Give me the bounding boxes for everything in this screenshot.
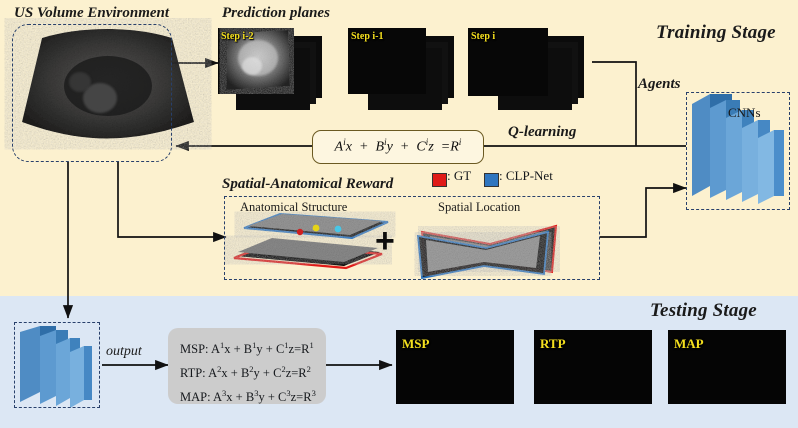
legend-swatch-gt (432, 173, 447, 187)
spatial-anatomical-reward-title: Spatial-Anatomical Reward (222, 176, 393, 193)
testing-equations-box: MSP: A1x + B1y + C1z=R1 RTP: A2x + B2y +… (168, 328, 326, 404)
q-learning-equation: Aix + Biy + Ciz =Ri (335, 138, 462, 156)
output-label: output (106, 344, 142, 360)
spatial-location-label: Spatial Location (438, 200, 520, 215)
testing-equation-msp: MSP: A1x + B1y + C1z=R1 (180, 335, 314, 359)
figure-root: Training Stage Testing Stage US Volume E… (0, 0, 798, 428)
step-tag-1: Step i-2 (221, 31, 254, 42)
anatomical-structure-label: Anatomical Structure (240, 200, 347, 215)
result-label-map: MAP (674, 336, 704, 352)
testing-equation-rtp: RTP: A2x + B2y + C2z=R2 (180, 359, 314, 383)
result-label-msp: MSP (402, 336, 429, 352)
agents-title: Agents (638, 76, 681, 93)
us-volume-environment-title: US Volume Environment (14, 5, 169, 22)
testing-cnn-box (14, 322, 100, 408)
legend-label-clp: : CLP-Net (499, 168, 553, 184)
q-learning-equation-box: Aix + Biy + Ciz =Ri (312, 130, 484, 164)
q-learning-label: Q-learning (508, 124, 576, 141)
cnns-label: CNNs (728, 105, 761, 121)
legend-label-gt: : GT (447, 168, 471, 184)
testing-stage-title: Testing Stage (650, 300, 757, 322)
prediction-planes-title: Prediction planes (222, 5, 330, 22)
us-volume-environment-box (12, 24, 172, 162)
plus-operator: + (375, 224, 395, 258)
step-tag-2: Step i-1 (351, 31, 384, 42)
legend-swatch-clp (484, 173, 499, 187)
training-stage-title: Training Stage (656, 22, 776, 44)
result-label-rtp: RTP (540, 336, 566, 352)
step-tag-3: Step i (471, 31, 495, 42)
testing-equation-map: MAP: A3x + B3y + C3z=R3 (180, 383, 314, 407)
